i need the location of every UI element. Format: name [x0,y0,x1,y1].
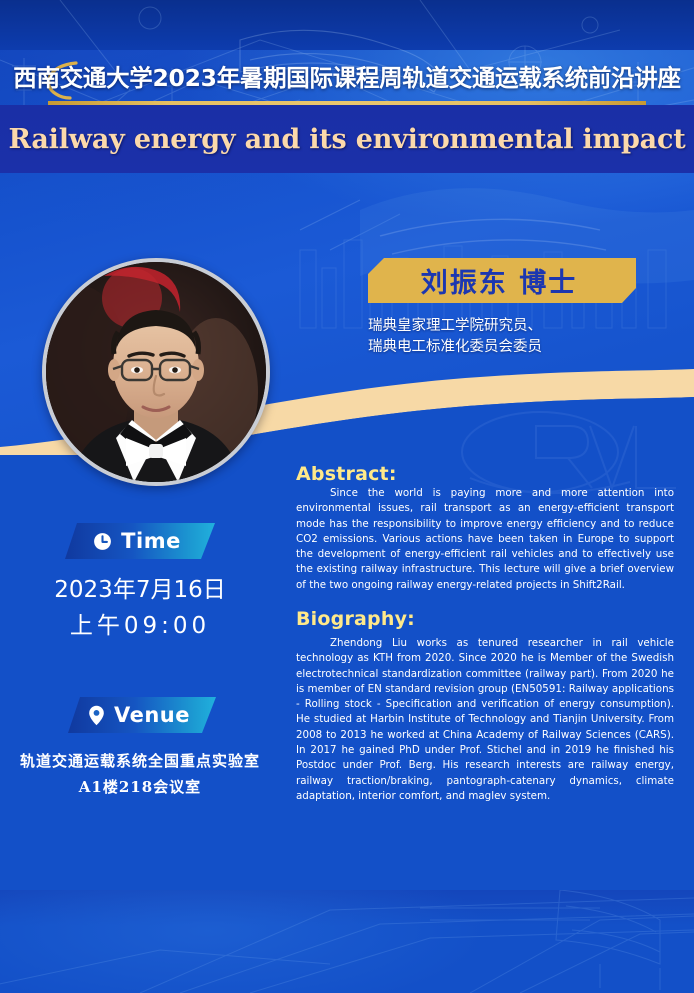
map-pin-icon [88,705,105,726]
affiliation-line-1: 瑞典皇家理工学院研究员、 [368,316,668,337]
hero-top-strip [0,0,694,50]
page-title-en: Railway energy and its environmental imp… [0,105,694,173]
poster-root: 西南交通大学2023年暑期国际课程周轨道交通运载系统前沿讲座 Railway e… [0,0,694,993]
speaker-name: 刘振东 博士 [368,258,636,303]
venue-label: Venue [114,703,190,727]
biography-text: Zhendong Liu works as tenured researcher… [296,637,674,802]
venue-line-1: 轨道交通运载系统全国重点实验室 [0,750,280,771]
page-title-cn: 西南交通大学2023年暑期国际课程周轨道交通运载系统前沿讲座 [0,56,694,100]
header-title-band: 西南交通大学2023年暑期国际课程周轨道交通运载系统前沿讲座 [0,56,694,104]
speaker-affiliation: 瑞典皇家理工学院研究员、 瑞典电工标准化委员会委员 [368,316,668,358]
time-date: 2023年7月16日 [0,570,280,604]
portrait-image [46,262,266,482]
abstract-body: Since the world is paying more and more … [296,486,674,593]
abstract-heading: Abstract: [296,463,397,485]
speaker-name-banner: 刘振东 博士 [368,258,636,303]
venue-pill-inner: Venue [88,703,196,727]
biography-body: Zhendong Liu works as tenured researcher… [296,636,674,804]
biography-heading: Biography: [296,608,415,630]
venue-pill: Venue [68,697,216,733]
abstract-text: Since the world is paying more and more … [296,487,674,591]
time-pill-inner: Time [93,529,187,553]
speaker-photo [42,258,270,486]
footer-bar: 轨道交通运载系统全国重点实验室 State Key Laboratory of … [0,890,694,993]
affiliation-line-2: 瑞典电工标准化委员会委员 [368,337,668,358]
time-pill: Time [65,523,215,559]
footer-lineart [0,890,694,993]
venue-line-2: A1楼218会议室 [0,776,280,797]
time-label: Time [121,529,181,553]
clock-icon [93,532,112,551]
time-hour: 上午09:00 [0,606,280,640]
